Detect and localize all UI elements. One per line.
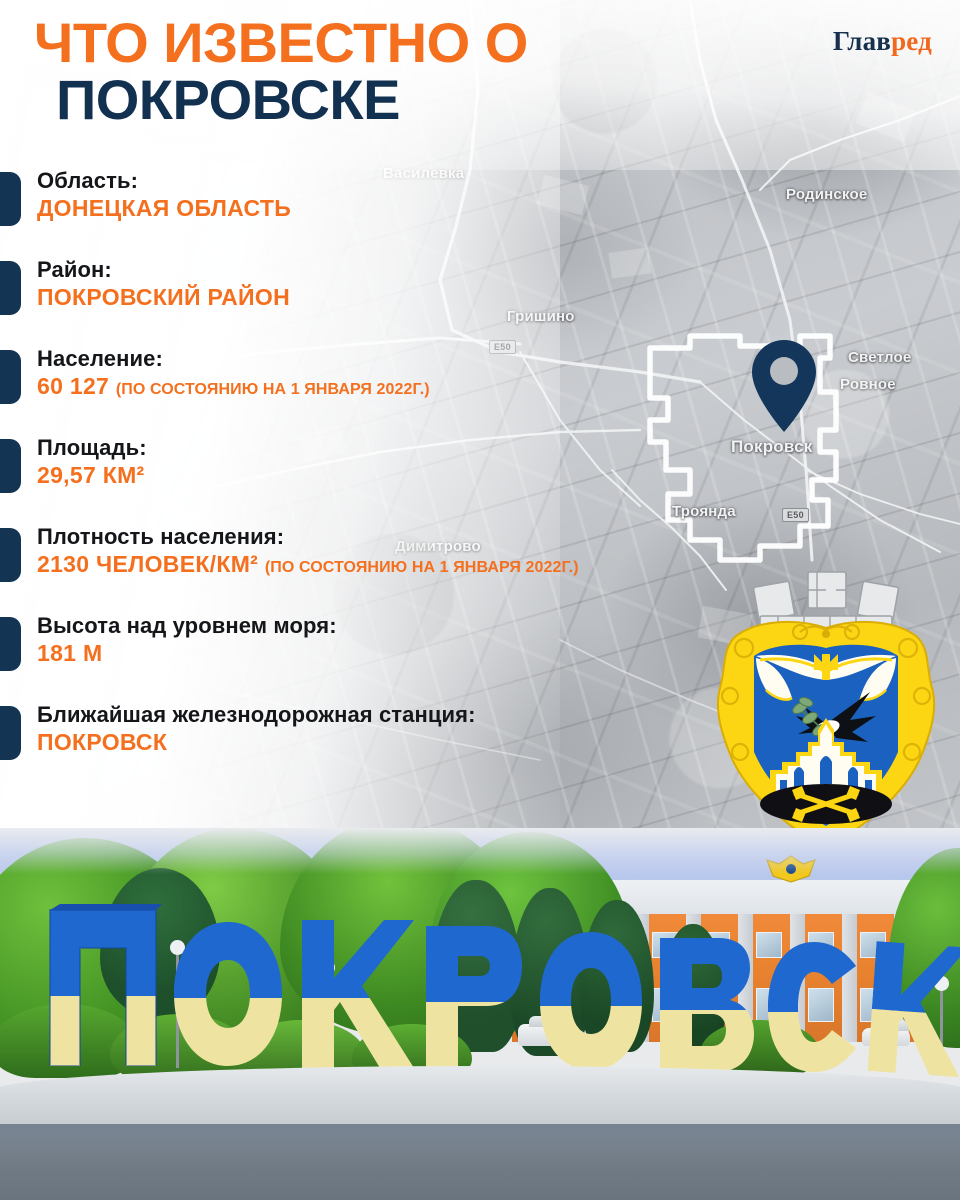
stela-letter-R [420, 924, 526, 1072]
fact-value: 2130 ЧЕЛОВЕК/КМ² [37, 551, 258, 577]
title-line-2: ПОКРОВСКЕ [56, 71, 528, 128]
page-title: ЧТО ИЗВЕСТНО О ПОКРОВСКЕ [34, 14, 528, 128]
bullet-marker-icon [0, 261, 21, 315]
fact-value: 60 127 [37, 373, 109, 399]
stela-letter-S [762, 940, 862, 1074]
photo-top-fade [0, 828, 960, 874]
logo-text-red: ред [891, 26, 932, 56]
fact-item-area: Площадь: 29,57 КМ² [0, 435, 960, 495]
site-logo[interactable]: Главред [833, 28, 932, 55]
fact-label: Область: [37, 168, 960, 194]
infographic-poster: Василевка Родинское Гришино Светлое Ровн… [0, 0, 960, 1200]
stela-letter-O2 [534, 930, 648, 1072]
bullet-marker-icon [0, 350, 21, 404]
city-entrance-photo [0, 828, 960, 1200]
fact-label: Плотность населения: [37, 524, 960, 550]
fact-note: (ПО СОСТОЯНИЮ НА 1 ЯНВАРЯ 2022Г.) [116, 381, 430, 398]
fact-label: Население: [37, 346, 960, 372]
bullet-marker-icon [0, 617, 21, 671]
fact-item-population: Население: 60 127 (ПО СОСТОЯНИЮ НА 1 ЯНВ… [0, 346, 960, 406]
fact-value: ПОКРОВСКИЙ РАЙОН [37, 284, 290, 310]
fact-label: Площадь: [37, 435, 960, 461]
stela-letter-K2 [862, 939, 960, 1078]
bullet-marker-icon [0, 528, 21, 582]
fact-value: 29,57 КМ² [37, 462, 145, 488]
bullet-marker-icon [0, 172, 21, 226]
fact-value: 181 М [37, 640, 102, 666]
fact-note: (ПО СОСТОЯНИЮ НА 1 ЯНВАРЯ 2022Г.) [265, 559, 579, 576]
foreground-pavement [0, 1124, 960, 1200]
stela-letter-K1 [296, 916, 414, 1068]
bullet-marker-icon [0, 706, 21, 760]
fact-item-region: Область: ДОНЕЦКАЯ ОБЛАСТЬ [0, 168, 960, 228]
fact-label: Район: [37, 257, 960, 283]
title-line-1: ЧТО ИЗВЕСТНО О [34, 14, 528, 71]
stela-letter-P1 [44, 904, 162, 1066]
bullet-marker-icon [0, 439, 21, 493]
stela-letter-O1 [168, 920, 288, 1068]
coat-of-arms-icon [700, 556, 952, 856]
fact-value: ДОНЕЦКАЯ ОБЛАСТЬ [37, 195, 291, 221]
fact-value: ПОКРОВСК [37, 729, 167, 755]
stela-letter-V [654, 936, 758, 1074]
logo-text-glav: Глав [833, 26, 891, 56]
fact-item-district: Район: ПОКРОВСКИЙ РАЙОН [0, 257, 960, 317]
